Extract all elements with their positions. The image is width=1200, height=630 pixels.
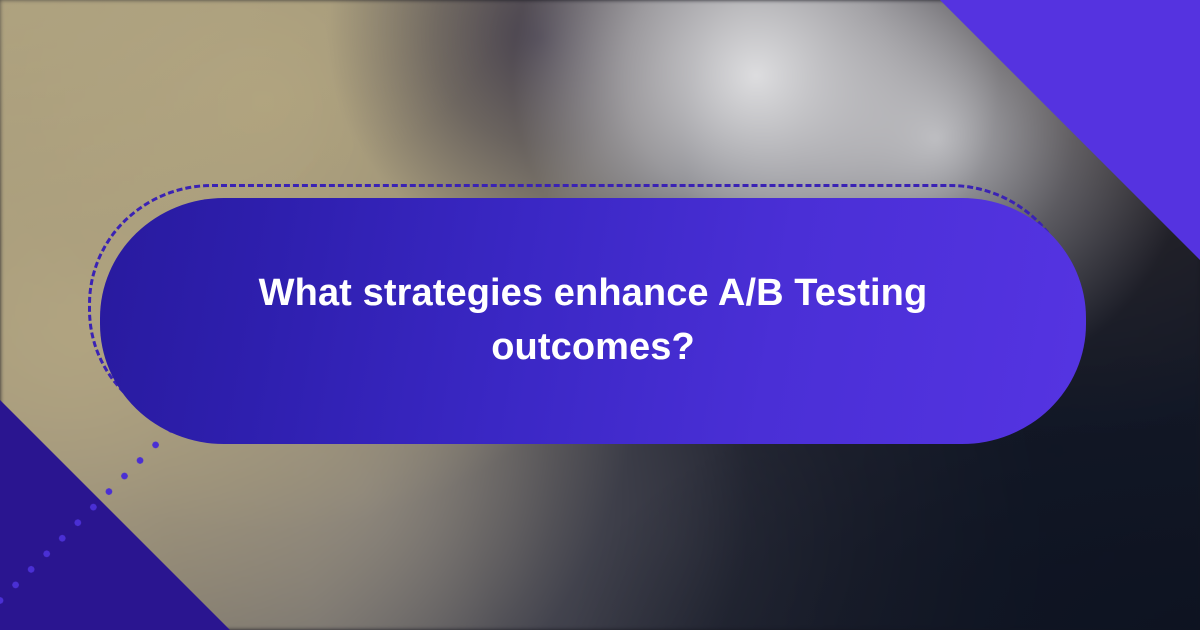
card-surface: What strategies enhance A/B Testing outc… xyxy=(100,198,1086,444)
social-card-canvas: What strategies enhance A/B Testing outc… xyxy=(0,0,1200,630)
question-card: What strategies enhance A/B Testing outc… xyxy=(100,198,1086,444)
card-title: What strategies enhance A/B Testing outc… xyxy=(228,267,958,375)
